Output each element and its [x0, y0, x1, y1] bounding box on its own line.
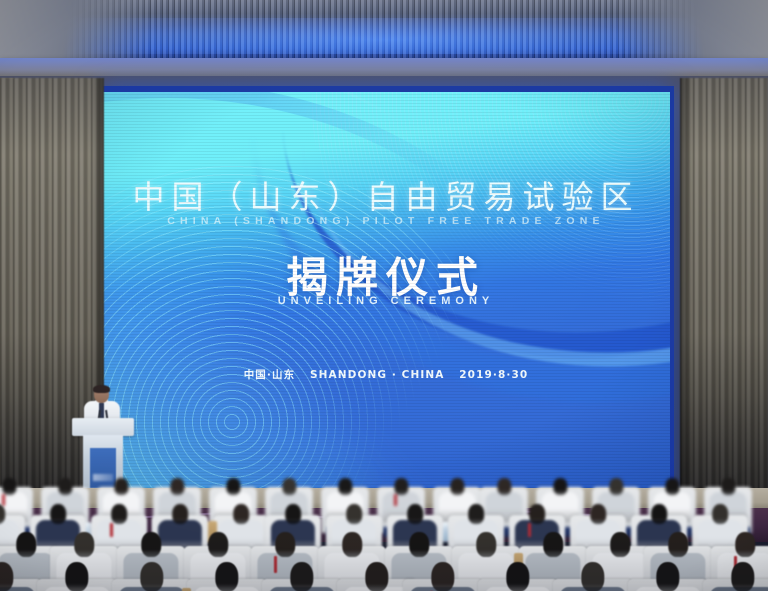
lanyard-badge [528, 523, 531, 537]
audience-person-head [498, 478, 511, 495]
audience-person-head [290, 562, 313, 591]
led-screen-frame: 中国（山东）自由贸易试验区 CHINA (SHANDONG) PILOT FRE… [98, 86, 674, 492]
audience-person-head [581, 562, 604, 591]
audience-person-head [395, 478, 408, 495]
audience-person-head [275, 532, 295, 557]
lanyard-badge [274, 556, 277, 574]
lanyard-badge [110, 523, 113, 537]
audience-person-head [208, 532, 228, 557]
curtain-shading-right [680, 78, 768, 503]
ceiling-edge-right [618, 0, 768, 62]
audience-person-head [365, 562, 388, 591]
audience-person-head [74, 532, 94, 557]
audience-person-head [468, 504, 484, 524]
audience-person-head [668, 532, 688, 557]
seated-audience [0, 470, 768, 591]
audience-person-head [50, 504, 66, 524]
audience-person-head [722, 478, 735, 495]
curtain-inner-edge-right [680, 78, 692, 503]
audience-person-head [141, 532, 161, 557]
audience-person-head [731, 562, 754, 591]
audience-person-head [735, 532, 755, 557]
audience-person-head [171, 478, 184, 495]
audience-person-head [342, 532, 362, 557]
audience-person-head [543, 532, 563, 557]
audience-person-head [431, 562, 454, 591]
speaker-hair [93, 385, 110, 393]
audience-person-head [346, 504, 362, 524]
audience-person-head [656, 562, 679, 591]
conference-hall-photo: 中国（山东）自由贸易试验区 CHINA (SHANDONG) PILOT FRE… [0, 0, 768, 591]
screen-scanlines [102, 92, 670, 488]
audience-person-head [16, 532, 36, 557]
lanyard-badge [394, 494, 397, 506]
audience-person-head [59, 478, 72, 495]
audience-person-head [451, 478, 464, 495]
lanyard-badge [2, 494, 5, 506]
audience-person-head [407, 504, 423, 524]
audience-person-head [115, 478, 128, 495]
led-screen: 中国（山东）自由贸易试验区 CHINA (SHANDONG) PILOT FRE… [102, 92, 670, 488]
audience-person-head [285, 504, 301, 524]
audience-person-head [651, 504, 667, 524]
ceiling-edge-left [0, 0, 150, 62]
podium-top-surface [72, 418, 134, 436]
audience-person-head [65, 562, 88, 591]
audience-person-head [712, 504, 728, 524]
audience-person-head [215, 562, 238, 591]
audience-person-head [610, 478, 623, 495]
tumbler [182, 588, 191, 591]
audience-person-head [506, 562, 529, 591]
audience-person-head [409, 532, 429, 557]
audience-person-head [590, 504, 606, 524]
audience-person-head [227, 478, 240, 495]
audience-person-head [140, 562, 163, 591]
audience-person-head [554, 478, 567, 495]
audience-person-head [476, 532, 496, 557]
audience-person-head [610, 532, 630, 557]
audience-person-head [283, 478, 296, 495]
audience-person-head [666, 478, 679, 495]
audience-person-head [529, 504, 545, 524]
audience-person-head [3, 478, 16, 495]
audience-person-head [233, 504, 249, 524]
audience-person-head [111, 504, 127, 524]
ribbed-ceiling-panel [0, 0, 768, 62]
audience-person-head [172, 504, 188, 524]
audience-person-head [339, 478, 352, 495]
stage-curtain-right [680, 78, 768, 503]
